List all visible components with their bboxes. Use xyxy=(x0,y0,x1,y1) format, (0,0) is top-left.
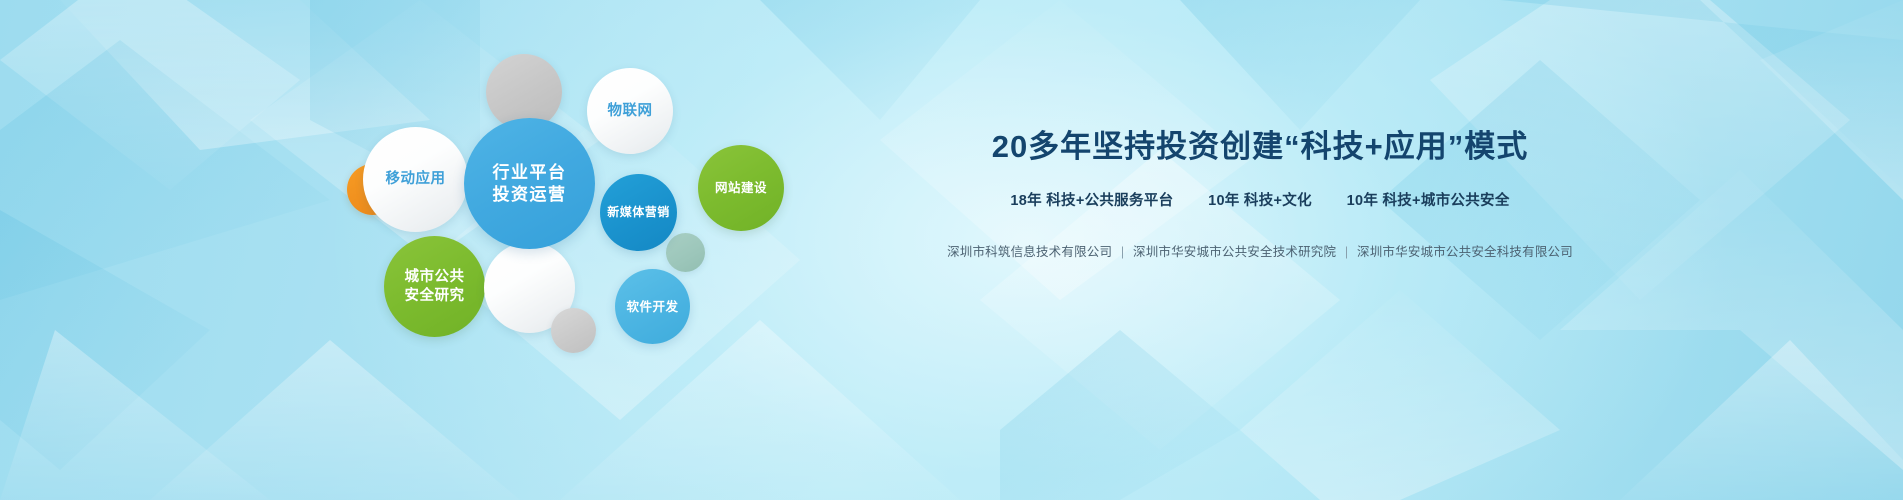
bubble-platform-invest-label: 行业平台 投资运营 xyxy=(493,162,567,206)
bubble-mobile-app-label: 移动应用 xyxy=(386,170,446,189)
company-separator-0: | xyxy=(1116,245,1129,259)
company-separator-1: | xyxy=(1340,245,1353,259)
company-name-1: 深圳市华安城市公共安全技术研究院 xyxy=(1133,245,1336,259)
bubble-city-safety-label: 城市公共 安全研究 xyxy=(405,268,465,305)
bubble-new-media[interactable]: 新媒体营销 xyxy=(600,174,677,251)
company-list: 深圳市科筑信息技术有限公司 | 深圳市华安城市公共安全技术研究院 | 深圳市华安… xyxy=(830,241,1690,260)
bubble-software-dev[interactable]: 软件开发 xyxy=(615,269,690,344)
decor-bubble-gray-small xyxy=(551,308,596,353)
subline-item-0: 18年 科技+公共服务平台 xyxy=(1010,193,1173,209)
hero-banner: 物联网 移动应用 城市公共 安全研究 行业平台 投资运营 新媒体营销 网站建设 xyxy=(0,0,1903,500)
company-name-2: 深圳市华安城市公共安全科技有限公司 xyxy=(1357,245,1573,259)
bubble-iot-label: 物联网 xyxy=(608,102,653,121)
bubble-website-build[interactable]: 网站建设 xyxy=(698,145,784,231)
hero-text-block: 20多年坚持投资创建“科技+应用”模式 18年 科技+公共服务平台 10年 科技… xyxy=(830,128,1690,260)
decor-bubble-teal-small xyxy=(666,233,705,272)
bubble-website-build-label: 网站建设 xyxy=(715,180,767,196)
subline-item-2: 10年 科技+城市公共安全 xyxy=(1347,193,1510,209)
bubble-software-dev-label: 软件开发 xyxy=(626,299,678,315)
bubble-platform-invest[interactable]: 行业平台 投资运营 xyxy=(464,118,595,249)
company-name-0: 深圳市科筑信息技术有限公司 xyxy=(947,245,1112,259)
subline: 18年 科技+公共服务平台 10年 科技+文化 10年 科技+城市公共安全 xyxy=(830,189,1690,210)
bubble-new-media-label: 新媒体营销 xyxy=(607,205,670,220)
subline-item-1: 10年 科技+文化 xyxy=(1208,193,1312,209)
bubble-city-safety[interactable]: 城市公共 安全研究 xyxy=(384,236,485,337)
bubble-mobile-app[interactable]: 移动应用 xyxy=(363,127,468,232)
headline: 20多年坚持投资创建“科技+应用”模式 xyxy=(830,128,1690,165)
bubble-cluster: 物联网 移动应用 城市公共 安全研究 行业平台 投资运营 新媒体营销 网站建设 xyxy=(0,0,900,500)
bubble-iot[interactable]: 物联网 xyxy=(587,68,673,154)
